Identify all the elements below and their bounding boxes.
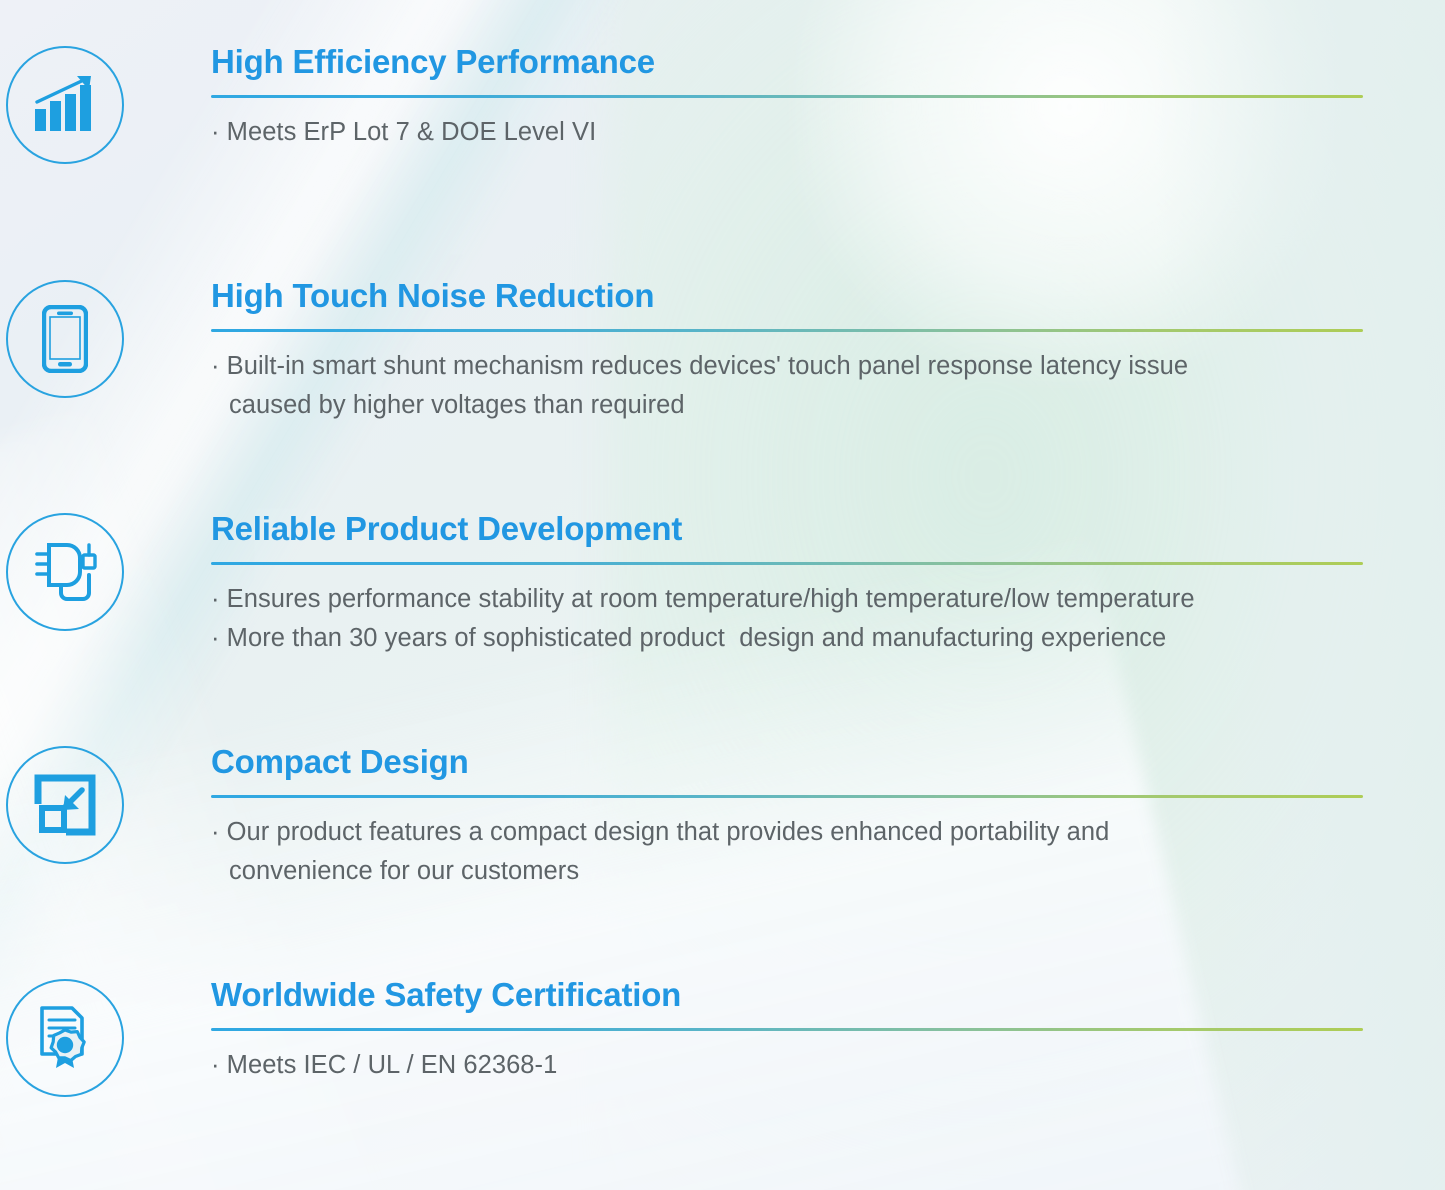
feature-text-column: Worldwide Safety Certification · Meets I… <box>130 977 1445 1085</box>
feature-title: High Efficiency Performance <box>211 44 1365 81</box>
bullet-line: · Ensures performance stability at room … <box>211 580 1365 619</box>
feature-list: High Efficiency Performance · Meets ErP … <box>0 0 1445 1190</box>
bullet-line-continuation: convenience for our customers <box>211 852 1365 891</box>
bullet-line: · More than 30 years of sophisticated pr… <box>211 619 1365 658</box>
bullet-line: · Built-in smart shunt mechanism reduces… <box>211 347 1365 386</box>
power-adapter-icon <box>27 539 103 605</box>
feature-divider <box>211 795 1363 798</box>
icon-container <box>0 511 130 631</box>
compact-resize-icon <box>34 774 96 836</box>
bullet-line-continuation: caused by higher voltages than required <box>211 386 1365 425</box>
icon-circle <box>6 746 124 864</box>
feature-bullets: · Meets ErP Lot 7 & DOE Level VI <box>211 113 1365 152</box>
bullet-line: · Meets ErP Lot 7 & DOE Level VI <box>211 113 1365 152</box>
feature-text-column: High Efficiency Performance · Meets ErP … <box>130 44 1445 152</box>
feature-item-reliable-product-development: Reliable Product Development · Ensures p… <box>0 511 1445 657</box>
feature-divider <box>211 562 1363 565</box>
feature-item-compact-design: Compact Design · Our product features a … <box>0 744 1445 890</box>
bullet-line: · Meets IEC / UL / EN 62368-1 <box>211 1046 1365 1085</box>
icon-container <box>0 744 130 864</box>
feature-divider <box>211 1028 1363 1031</box>
certificate-seal-icon <box>34 1004 96 1072</box>
icon-circle <box>6 280 124 398</box>
feature-bullets: · Ensures performance stability at room … <box>211 580 1365 658</box>
feature-divider <box>211 95 1363 98</box>
feature-text-column: Compact Design · Our product features a … <box>130 744 1445 890</box>
bar-chart-growth-icon <box>32 74 98 136</box>
icon-circle <box>6 513 124 631</box>
feature-title: Compact Design <box>211 744 1365 781</box>
icon-container <box>0 278 130 398</box>
icon-circle <box>6 46 124 164</box>
feature-bullets: · Our product features a compact design … <box>211 813 1365 891</box>
smartphone-icon <box>42 305 88 373</box>
feature-title: Reliable Product Development <box>211 511 1365 548</box>
icon-container <box>0 44 130 164</box>
feature-item-worldwide-safety-certification: Worldwide Safety Certification · Meets I… <box>0 977 1445 1097</box>
feature-title: High Touch Noise Reduction <box>211 278 1365 315</box>
feature-text-column: Reliable Product Development · Ensures p… <box>130 511 1445 657</box>
feature-divider <box>211 329 1363 332</box>
icon-circle <box>6 979 124 1097</box>
feature-text-column: High Touch Noise Reduction · Built-in sm… <box>130 278 1445 424</box>
feature-bullets: · Built-in smart shunt mechanism reduces… <box>211 347 1365 425</box>
bullet-line: · Our product features a compact design … <box>211 813 1365 852</box>
feature-item-high-efficiency-performance: High Efficiency Performance · Meets ErP … <box>0 44 1445 164</box>
feature-title: Worldwide Safety Certification <box>211 977 1365 1014</box>
icon-container <box>0 977 130 1097</box>
feature-item-high-touch-noise-reduction: High Touch Noise Reduction · Built-in sm… <box>0 278 1445 424</box>
feature-bullets: · Meets IEC / UL / EN 62368-1 <box>211 1046 1365 1085</box>
